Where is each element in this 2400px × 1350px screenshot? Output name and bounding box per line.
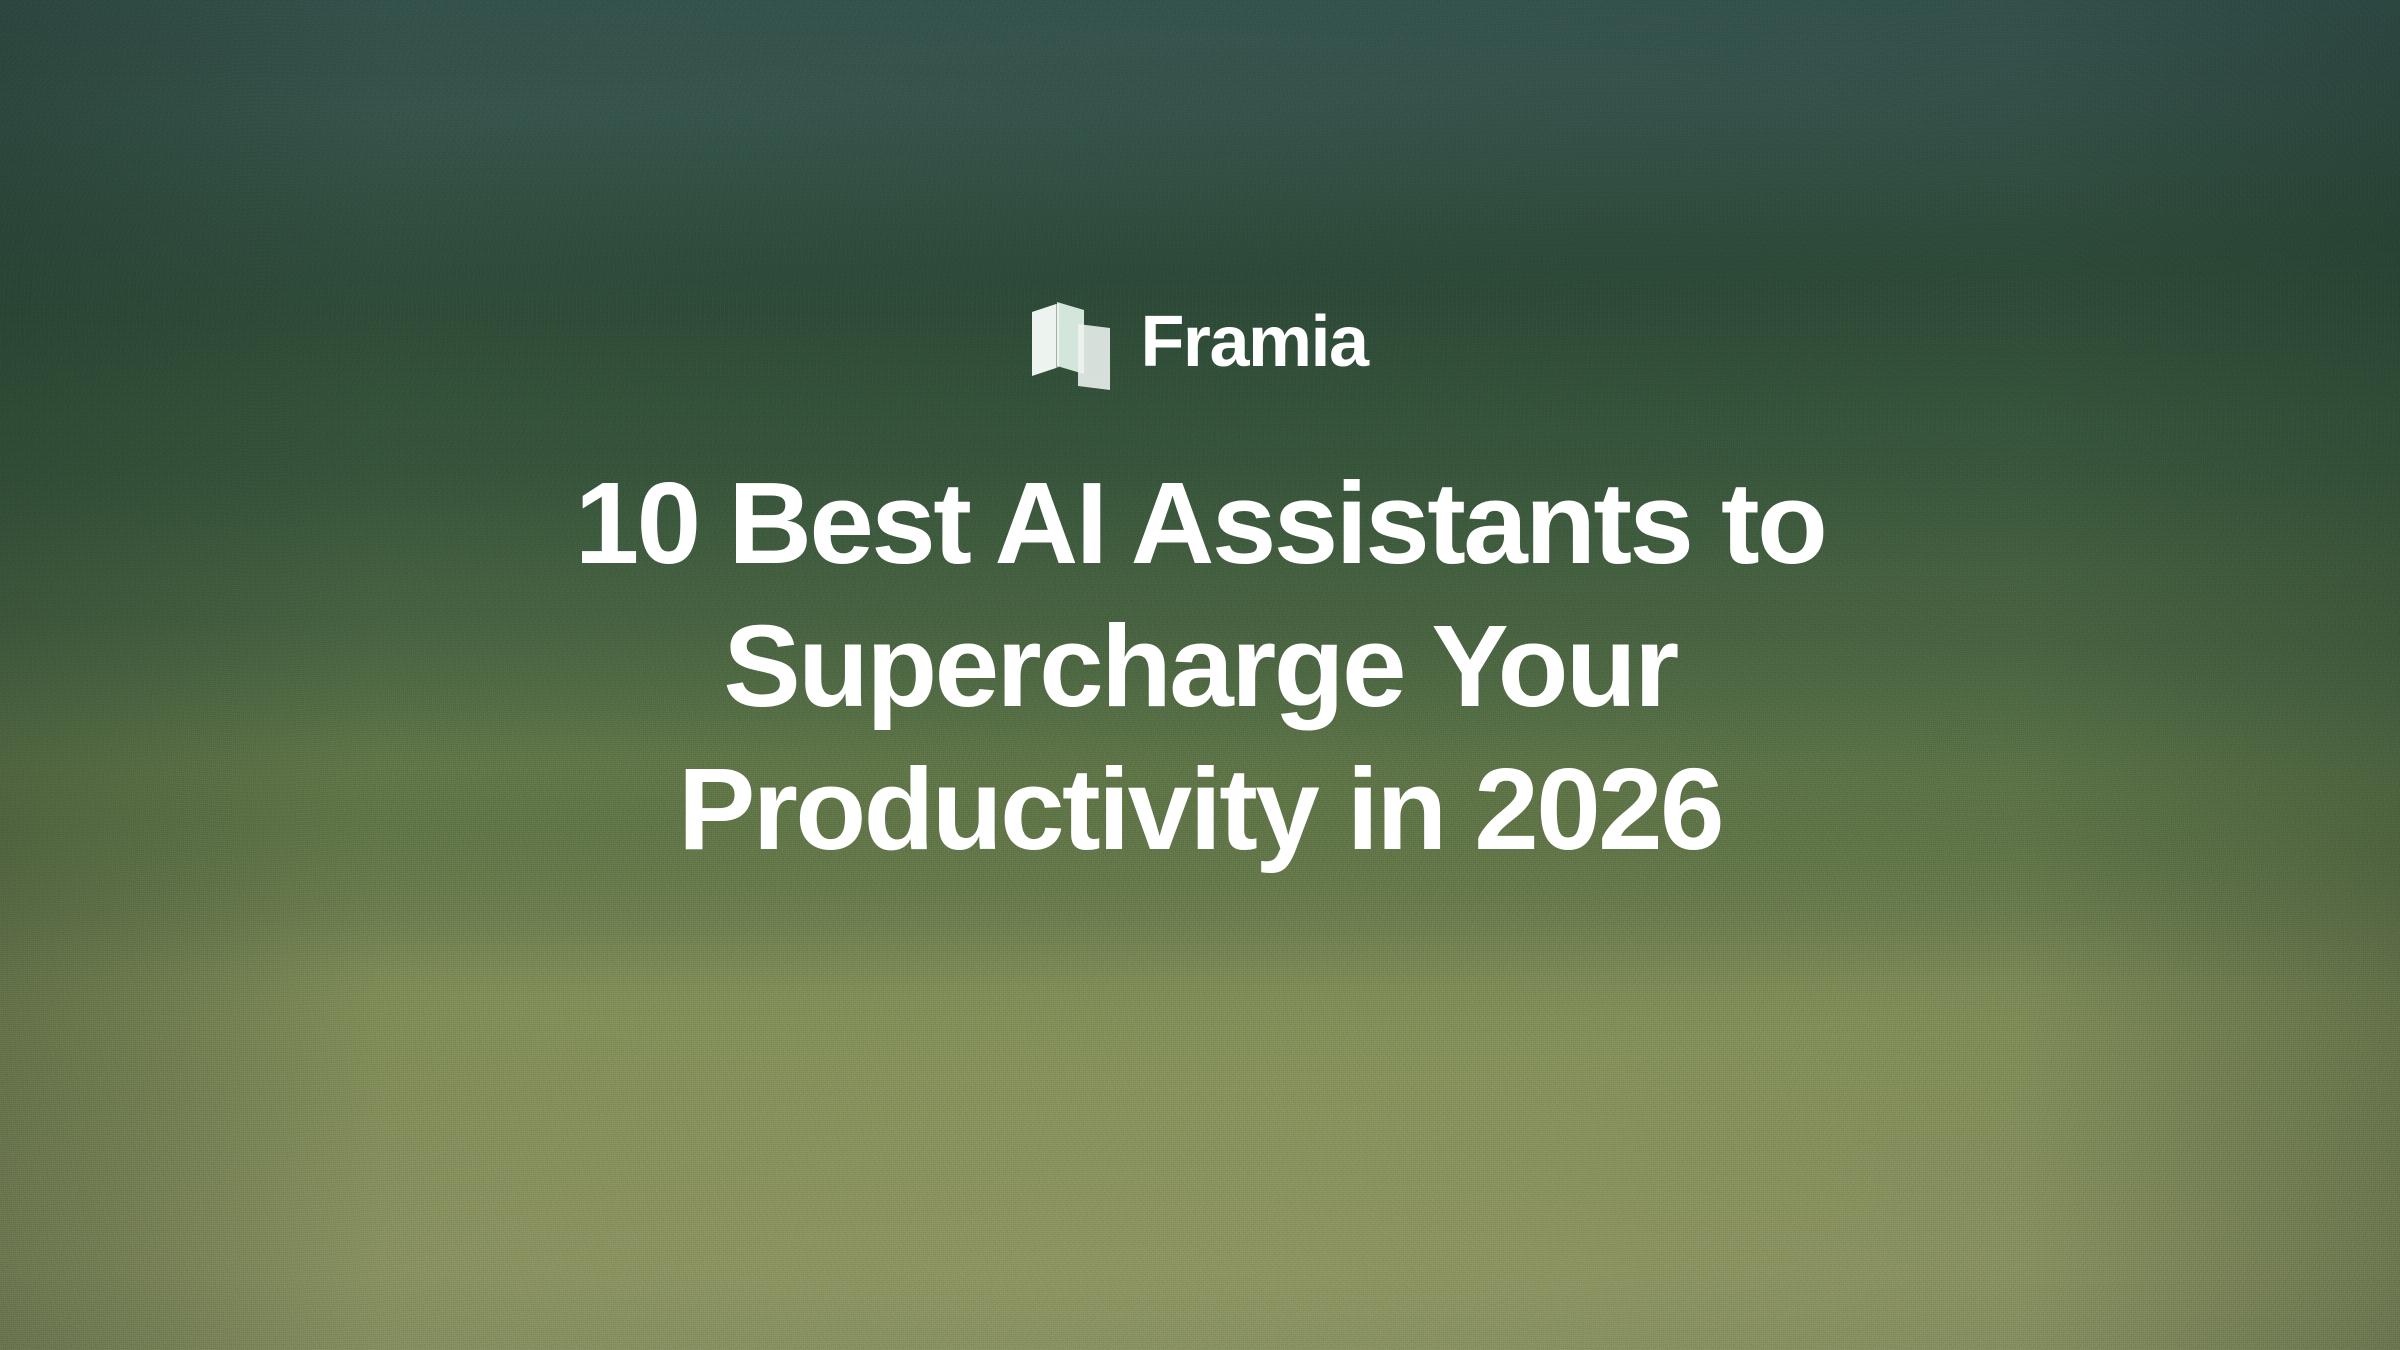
hero-banner: Framia 10 Best AI Assistants to Supercha… [0,0,2400,1350]
headline-line-1: 10 Best AI Assistants to [240,452,2160,595]
brand-lockup[interactable]: Framia [1032,294,1367,390]
page-title: 10 Best AI Assistants to Supercharge You… [240,452,2160,881]
brand-name: Framia [1140,306,1367,378]
headline-line-2: Supercharge Your [240,595,2160,738]
framia-logo-icon [1032,294,1114,390]
hero-content: Framia 10 Best AI Assistants to Supercha… [0,0,2400,1350]
headline-line-3: Productivity in 2026 [240,738,2160,881]
